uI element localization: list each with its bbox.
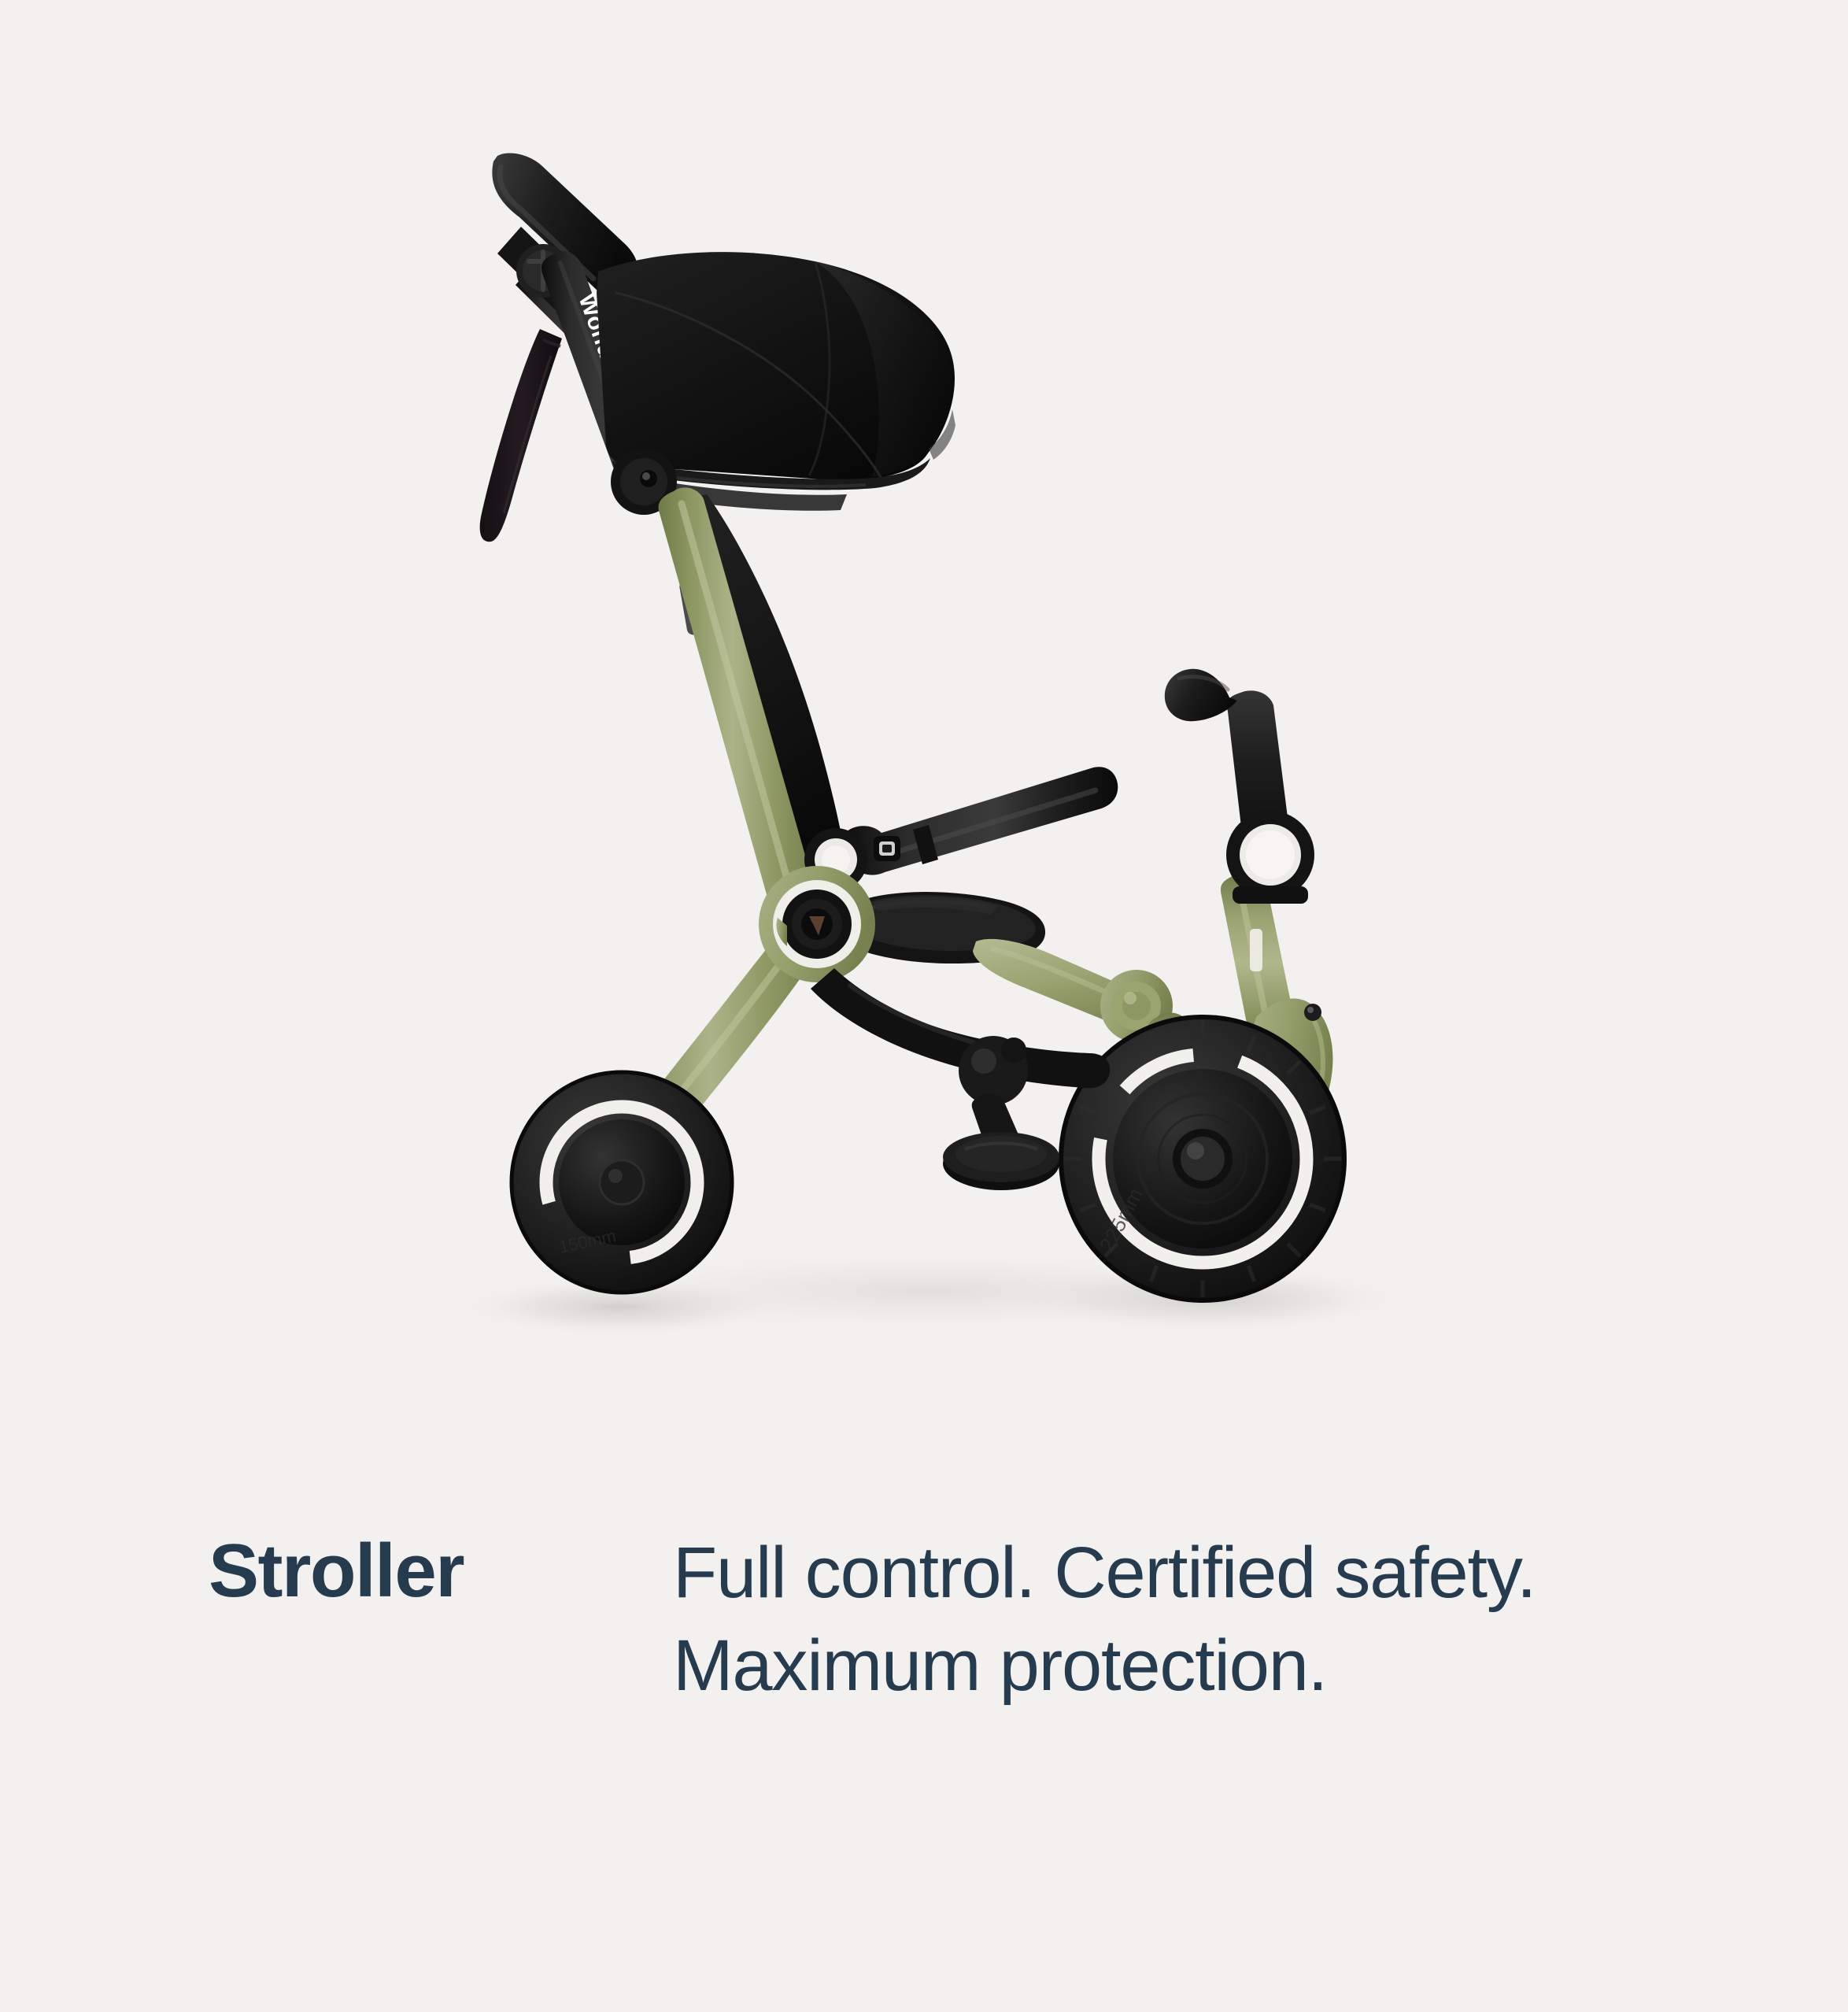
stroller-product-illustration: Wonder (0, 0, 1848, 1480)
tagline-line-2: Maximum protection. (673, 1620, 1712, 1713)
page-title: Stroller (209, 1529, 464, 1614)
product-tagline: Full control. Certified safety. Maximum … (673, 1527, 1712, 1713)
product-image-stage: Wonder (0, 0, 1848, 1480)
grab-handle-collar (1226, 811, 1314, 904)
carry-strap (480, 329, 562, 542)
front-wheel: 150mm (512, 1072, 732, 1293)
child-grab-handle (1165, 669, 1314, 904)
caption-block: Stroller Full control. Certified safety.… (0, 1496, 1848, 1810)
tagline-line-1: Full control. Certified safety. (673, 1527, 1712, 1620)
bumper-bar (841, 767, 1118, 875)
front-pivot-hub (759, 866, 875, 982)
